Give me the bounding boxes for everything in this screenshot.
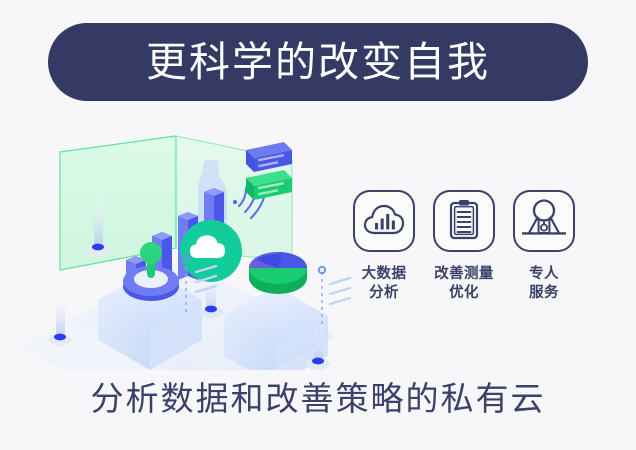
clipboard-icon: [447, 198, 481, 244]
feature-label: 改善测量 优化: [434, 265, 494, 303]
feature-item-dedicated-service[interactable]: 专人 服务: [510, 190, 578, 303]
pie-chart-3d: [249, 252, 307, 294]
feature-icon-box: [353, 190, 415, 252]
tagline: 分析数据和改善策略的私有云: [0, 382, 636, 415]
cloud-bar-chart-icon: [363, 202, 405, 240]
feature-label: 专人 服务: [529, 265, 559, 303]
title-banner: 更科学的改变自我: [48, 23, 588, 101]
poster-canvas: 更科学的改变自我: [0, 0, 636, 450]
feature-item-big-data-analysis[interactable]: 大数据 分析: [350, 190, 418, 303]
service-person-icon: [521, 198, 567, 244]
feature-label: 大数据 分析: [362, 265, 407, 303]
feature-item-improvement-measurement[interactable]: 改善测量 优化: [430, 190, 498, 303]
feature-icon-box: [433, 190, 495, 252]
page-title: 更科学的改变自我: [146, 42, 490, 83]
feature-list: 大数据 分析: [350, 190, 600, 303]
isometric-data-platform-illustration: [20, 120, 360, 370]
feature-icon-box: [513, 190, 575, 252]
